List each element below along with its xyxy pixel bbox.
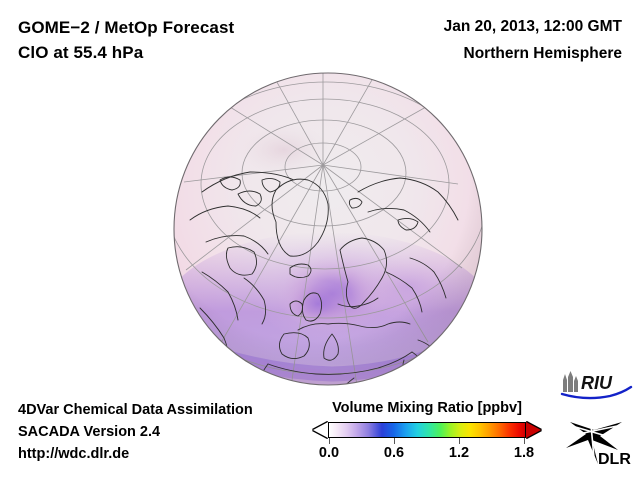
species-subtitle: ClO at 55.4 hPa bbox=[18, 43, 143, 63]
footer-line-version: SACADA Version 2.4 bbox=[18, 421, 253, 443]
dlr-logo: DLR bbox=[560, 406, 636, 468]
footer-line-url: http://wdc.dlr.de bbox=[18, 443, 253, 465]
riu-wordmark: RIU bbox=[581, 373, 613, 393]
colorbar: Volume Mixing Ratio [ppbv] 0.0 0.6 1.2 1… bbox=[312, 400, 542, 465]
colorbar-scale bbox=[312, 419, 542, 441]
colorbar-tick bbox=[524, 438, 525, 444]
riu-towers-icon bbox=[563, 371, 578, 392]
dlr-wordmark: DLR bbox=[598, 451, 631, 468]
timestamp-label: Jan 20, 2013, 12:00 GMT bbox=[444, 18, 622, 36]
hemisphere-label: Northern Hemisphere bbox=[464, 45, 622, 63]
colorbar-tick-label: 1.2 bbox=[449, 445, 469, 461]
colorbar-tick-label: 0.0 bbox=[319, 445, 339, 461]
colorbar-gradient bbox=[328, 422, 526, 438]
colorbar-tick-labels: 0.0 0.6 1.2 1.8 bbox=[312, 445, 542, 465]
colorbar-title: Volume Mixing Ratio [ppbv] bbox=[312, 400, 542, 416]
footer-line-method: 4DVar Chemical Data Assimilation bbox=[18, 399, 253, 421]
figure-canvas: GOME−2 / MetOp Forecast ClO at 55.4 hPa … bbox=[0, 0, 640, 480]
colorbar-tick-label: 0.6 bbox=[384, 445, 404, 461]
colorbar-tick bbox=[459, 438, 460, 444]
globe-map bbox=[170, 70, 486, 388]
riu-logo: RIU bbox=[560, 370, 634, 400]
footer-credits: 4DVar Chemical Data Assimilation SACADA … bbox=[18, 399, 253, 465]
limb-shading bbox=[174, 73, 482, 385]
colorbar-high-extend-arrow-icon bbox=[526, 422, 541, 438]
colorbar-tick bbox=[329, 438, 330, 444]
page-title: GOME−2 / MetOp Forecast bbox=[18, 18, 234, 38]
orthographic-projection bbox=[172, 72, 484, 386]
colorbar-tick bbox=[394, 438, 395, 444]
colorbar-tick-label: 1.8 bbox=[514, 445, 534, 461]
colorbar-low-extend-arrow-icon bbox=[313, 422, 328, 438]
